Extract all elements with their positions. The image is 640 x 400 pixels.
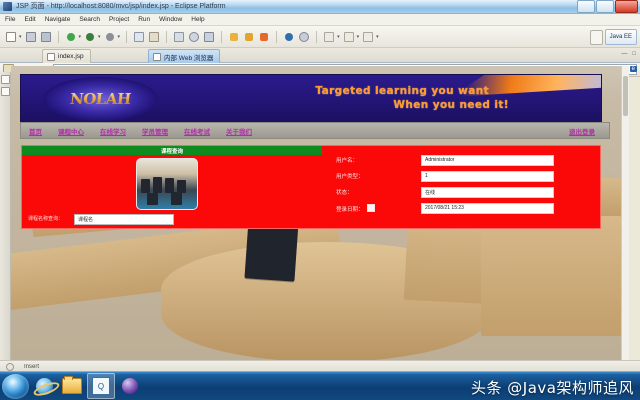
project-explorer-icon[interactable] (1, 87, 10, 96)
course-search-input[interactable]: 课程名 (74, 214, 174, 225)
next-annotation-icon[interactable] (343, 30, 355, 43)
calendar-icon[interactable] (367, 204, 375, 212)
field-value: Administrator (425, 157, 454, 163)
taskbar-eclipse-button[interactable] (117, 374, 143, 398)
folder-icon (62, 378, 82, 394)
editor-tab-bar: index.jsp 内部 Web 浏览器 — □ (0, 48, 640, 63)
restore-views-icon[interactable] (1, 75, 10, 84)
search-input-value: 课程名 (78, 216, 93, 223)
deploy-icon[interactable] (228, 30, 240, 43)
qq-icon: Q (92, 377, 110, 395)
field-label-login-date: 登录日期： (336, 204, 421, 213)
menu-item-navigate[interactable]: Navigate (45, 16, 71, 23)
nav-link-online-learning[interactable]: 在线学习 (100, 126, 126, 136)
toolbar-separator-2 (126, 31, 127, 43)
profile-icon[interactable] (298, 30, 310, 43)
toolbar-separator-6 (316, 31, 317, 43)
menu-bar: File Edit Navigate Search Project Run Wi… (0, 14, 640, 26)
field-value: 1 (425, 173, 428, 179)
search-field-label: 课程名称查询： (28, 215, 63, 222)
field-input-login-date[interactable]: 2017/08/21 15:23 (421, 203, 554, 214)
nav-link-students[interactable]: 学员管理 (142, 126, 168, 136)
minimize-editor-icon[interactable]: — (621, 51, 627, 57)
eclipse-icon (122, 378, 138, 394)
field-value: 在线 (425, 189, 435, 196)
content-panel: 课程查询 课程名称查询： 课程名 (21, 145, 601, 229)
window-titlebar[interactable]: JSP 页面 - http://localhost:8080/mvc/jsp/i… (0, 0, 640, 14)
open-perspective-button[interactable] (590, 30, 603, 45)
field-label-text: 登录日期： (336, 207, 364, 213)
form-row: 状态： 在线 (322, 184, 600, 200)
toolbar-separator-3 (166, 31, 167, 43)
back-history-icon[interactable] (362, 30, 374, 43)
close-button[interactable] (615, 0, 638, 13)
site-logo-text: NOLAH (69, 90, 132, 108)
maximize-editor-icon[interactable]: □ (632, 51, 636, 57)
field-label-status: 状态： (336, 188, 421, 196)
site-nav-bar: 首页 课程中心 在线学习 学员管理 在线考试 关于我们 退出登录 (20, 122, 610, 139)
watermark-text: 头条 @Java架构师追风 (471, 377, 634, 398)
taskbar-explorer-button[interactable] (59, 374, 85, 398)
eclipse-window: JSP 页面 - http://localhost:8080/mvc/jsp/i… (0, 0, 640, 372)
panel-right-form: 用户名： Administrator 用户类型： 1 状态： (322, 146, 600, 234)
toolbar-separator (58, 31, 59, 43)
save-icon[interactable] (25, 30, 37, 43)
taskbar-ie-button[interactable] (31, 374, 57, 398)
minimized-views-strip (0, 72, 11, 360)
status-text: Insert (24, 364, 39, 370)
minimize-button[interactable] (577, 0, 595, 13)
server-icon[interactable] (243, 30, 255, 43)
panel-green-header: 课程查询 (22, 146, 322, 155)
field-label-username: 用户名： (336, 156, 421, 164)
maximize-button[interactable] (596, 0, 614, 13)
panel-left-column: 课程查询 课程名称查询： 课程名 (22, 146, 322, 228)
search-icon[interactable] (188, 30, 200, 43)
main-toolbar: ▾ ▾ ▾ ▾ ▾ (0, 26, 640, 48)
tab-internal-web-browser[interactable]: 内部 Web 浏览器 (148, 49, 220, 63)
tab-index-jsp[interactable]: index.jsp (42, 49, 91, 63)
open-type-icon[interactable] (173, 30, 185, 43)
banner-tagline: Targeted learning you want When you need… (221, 84, 511, 112)
external-tools-icon[interactable] (104, 30, 116, 43)
link-icon[interactable] (203, 30, 215, 43)
run-icon[interactable] (65, 30, 77, 43)
nav-link-exams[interactable]: 在线考试 (184, 126, 210, 136)
nav-link-home[interactable]: 首页 (29, 126, 42, 136)
ie-icon (36, 378, 53, 395)
nav-link-about[interactable]: 关于我们 (226, 126, 252, 136)
page-scrollbar[interactable] (621, 66, 629, 360)
form-row: 用户名： Administrator (322, 152, 600, 168)
scrollbar-thumb[interactable] (623, 76, 628, 116)
menu-item-run[interactable]: Run (138, 16, 150, 23)
field-input-username[interactable]: Administrator (421, 155, 554, 166)
prev-caret[interactable]: ▾ (337, 34, 340, 40)
course-thumbnail[interactable] (136, 158, 198, 210)
tagline-line-2: When you need it! (221, 98, 511, 112)
field-input-usertype[interactable]: 1 (421, 171, 554, 182)
tagline-line-1: Targeted learning you want (221, 84, 511, 98)
tab-label: index.jsp (58, 53, 84, 60)
field-input-status[interactable]: 在线 (421, 187, 554, 198)
menu-item-edit[interactable]: Edit (24, 16, 35, 23)
menu-item-search[interactable]: Search (79, 16, 100, 23)
external-dropdown-caret[interactable]: ▾ (118, 34, 121, 40)
previous-annotation-icon[interactable] (323, 30, 335, 43)
toolbar-separator-4 (221, 31, 222, 43)
file-icon (47, 53, 55, 61)
tab-label: 内部 Web 浏览器 (164, 52, 213, 62)
eclipse-app-icon (3, 2, 12, 11)
menu-item-window[interactable]: Window (159, 16, 182, 23)
new-icon[interactable] (5, 30, 17, 43)
taskbar-icons: Q (2, 373, 143, 399)
ie-engine-icon[interactable]: e (630, 66, 637, 72)
debug-icon[interactable] (84, 30, 96, 43)
site-banner: NOLAH Targeted learning you want When yo… (20, 74, 602, 124)
new-package-icon[interactable] (148, 30, 160, 43)
start-orb-icon[interactable] (2, 374, 29, 399)
run-dropdown-caret[interactable]: ▾ (79, 34, 82, 40)
green-header-label: 课程查询 (161, 147, 183, 155)
save-all-icon[interactable] (40, 30, 52, 43)
publish-icon[interactable] (258, 30, 270, 43)
perspective-label: Java EE (610, 34, 632, 40)
browser-icon (153, 53, 161, 61)
menu-item-file[interactable]: File (5, 16, 15, 23)
field-label-usertype: 用户类型： (336, 172, 421, 180)
new-java-class-icon[interactable] (133, 30, 145, 43)
windows-taskbar: Q 头条 @Java架构师追风 (0, 371, 640, 400)
taskbar-qq-button[interactable]: Q (87, 373, 115, 399)
nav-link-logout[interactable]: 退出登录 (569, 126, 595, 136)
globe-icon[interactable] (283, 30, 295, 43)
window-controls (577, 0, 638, 13)
field-value: 2017/08/21 15:23 (425, 205, 464, 211)
site-logo[interactable]: NOLAH (43, 77, 158, 121)
back-caret[interactable]: ▾ (376, 34, 379, 40)
form-row: 用户类型： 1 (322, 168, 600, 184)
status-indicator-icon (6, 363, 14, 371)
menu-item-project[interactable]: Project (109, 16, 129, 23)
screen: JSP 页面 - http://localhost:8080/mvc/jsp/i… (0, 0, 640, 400)
menu-item-help[interactable]: Help (191, 16, 204, 23)
debug-dropdown-caret[interactable]: ▾ (98, 34, 101, 40)
perspective-javaee[interactable]: Java EE (605, 29, 637, 45)
window-title: JSP 页面 - http://localhost:8080/mvc/jsp/i… (16, 1, 446, 11)
next-caret[interactable]: ▾ (357, 34, 360, 40)
form-row: 登录日期： 2017/08/21 15:23 (322, 200, 600, 216)
web-page-viewport: NOLAH Targeted learning you want When yo… (11, 66, 629, 360)
perspective-switcher: Java EE (590, 29, 637, 45)
editor-tab-controls: — □ (621, 51, 636, 57)
nav-link-courses[interactable]: 课程中心 (58, 126, 84, 136)
toolbar-separator-5 (276, 31, 277, 43)
new-dropdown-caret[interactable]: ▾ (19, 34, 22, 40)
